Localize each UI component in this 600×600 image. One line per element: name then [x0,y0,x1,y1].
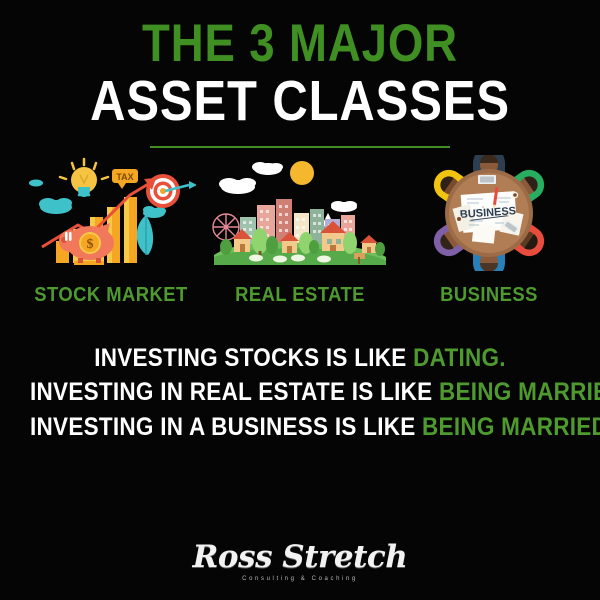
category-business: BUSINESS [396,154,582,307]
category-label-real-estate: REAL ESTATE [214,284,385,307]
tagline-2-plain: INVESTING IN REAL ESTATE IS LIKE [30,378,439,406]
infographic-poster: THE 3 MAJOR ASSET CLASSES [0,0,600,600]
category-icon-row: TAX [0,148,600,307]
tagline-1-highlight: DATING. [413,344,506,372]
category-label-business: BUSINESS [403,284,574,307]
business-team-table-icon: BUSINESS [396,154,582,272]
brand-name: Ross Stretch [0,542,600,573]
footer-logo: Ross Stretch Consulting & Coaching [0,542,600,582]
category-real-estate: REAL ESTATE [207,154,393,307]
tagline-row-3: INVESTING IN A BUSINESS IS LIKE BEING MA… [30,410,570,445]
stock-tax-tag-label: TAX [116,172,133,182]
piggy-coin-symbol: $ [87,237,94,252]
stock-market-growth-chart-icon: TAX [18,154,204,272]
title-block: THE 3 MAJOR ASSET CLASSES [0,0,600,148]
tagline-row-2: INVESTING IN REAL ESTATE IS LIKE BEING M… [30,375,570,410]
tagline-2-highlight: BEING MARRIED. [439,378,600,406]
tagline-3-plain: INVESTING IN A BUSINESS IS LIKE [30,413,422,441]
title-line-2: ASSET CLASSES [42,74,558,130]
city-real-estate-icon [207,154,393,272]
brand-tagline: Consulting & Coaching [0,576,600,582]
tagline-1-plain: INVESTING STOCKS IS LIKE [94,344,413,372]
tagline-block: INVESTING STOCKS IS LIKE DATING. INVESTI… [0,341,600,445]
tagline-row-1: INVESTING STOCKS IS LIKE DATING. [30,341,570,376]
tagline-3-highlight: BEING MARRIED WITH KIDS. [422,413,600,441]
category-stock-market: TAX [18,154,204,307]
category-label-stock-market: STOCK MARKET [25,284,196,307]
title-line-1: THE 3 MAJOR [42,18,558,70]
